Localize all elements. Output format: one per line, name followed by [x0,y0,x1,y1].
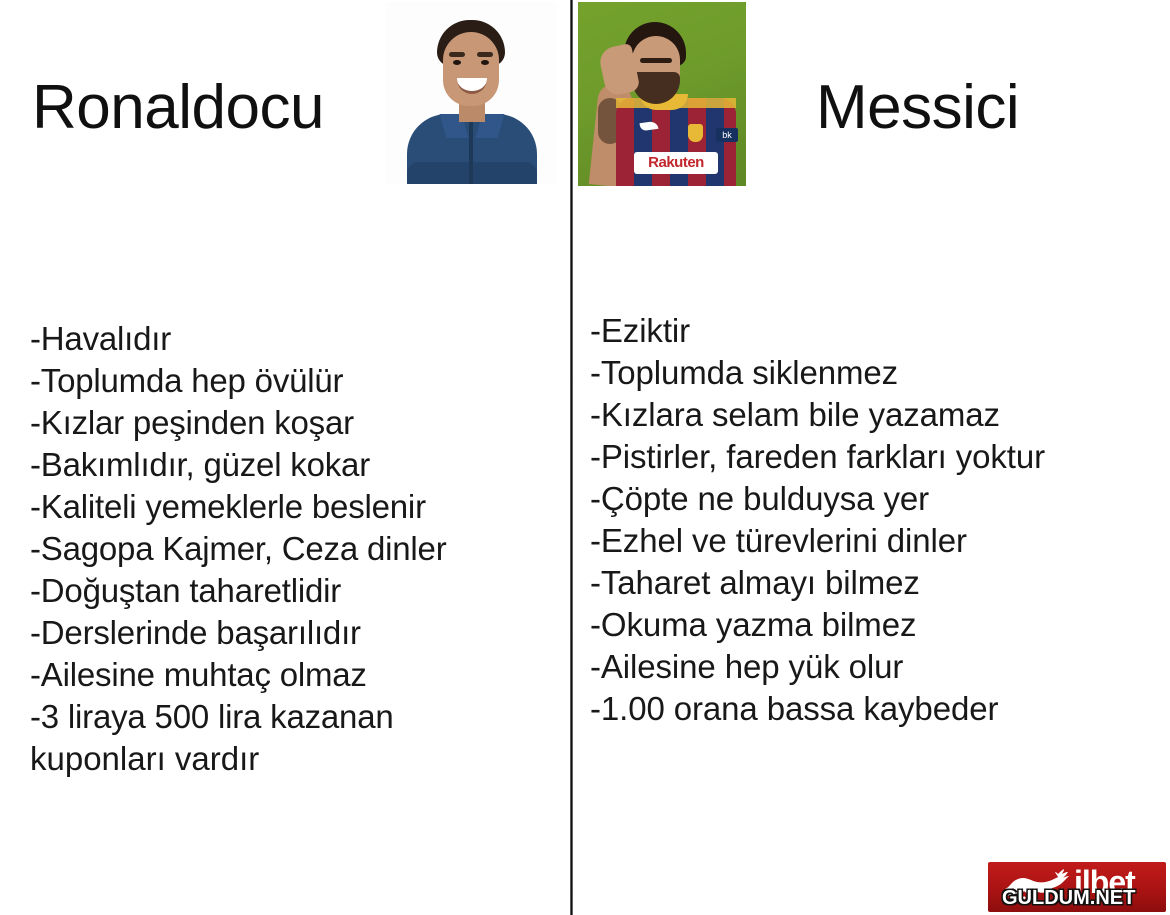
ronaldo-eye-left [453,60,461,65]
list-item: -Kızlara selam bile yazamaz [590,394,1045,436]
watermark-site: GULDUM.NET [1002,887,1135,910]
list-item: -Taharet almayı bilmez [590,562,1045,604]
ronaldo-shirt-placket [469,120,473,184]
list-item: -Pistirler, fareden farkları yoktur [590,436,1045,478]
list-item: -Ailesine hep yük olur [590,646,1045,688]
ronaldo-photo [385,2,557,184]
list-item: -3 liraya 500 lira kazanan [30,696,447,738]
list-item: -Sagopa Kajmer, Ceza dinler [30,528,447,570]
meme-image: Ronaldocu -Havalıdır -Toplumda hep övülü [0,0,1170,915]
messi-eyebrow [640,58,672,63]
left-column: Ronaldocu -Havalıdır -Toplumda hep övülü [0,0,570,915]
right-column: Messici bk Rakuten -Eziktir [573,0,1170,915]
list-item: -Eziktir [590,310,1045,352]
messi-photo-inner: bk Rakuten [578,2,746,186]
ronaldo-eye-right [481,60,489,65]
club-crest-icon [688,124,703,142]
list-item: -Ailesine muhtaç olmaz [30,654,447,696]
left-title: Ronaldocu [32,72,324,143]
list-item: -Okuma yazma bilmez [590,604,1045,646]
list-item: -Toplumda hep övülür [30,360,447,402]
list-item: -Toplumda siklenmez [590,352,1045,394]
right-list: -Eziktir -Toplumda siklenmez -Kızlara se… [590,310,1045,730]
left-list: -Havalıdır -Toplumda hep övülür -Kızlar … [30,318,447,780]
list-item: -Derslerinde başarılıdır [30,612,447,654]
list-item: -Havalıdır [30,318,447,360]
list-item: -1.00 orana bassa kaybeder [590,688,1045,730]
ronaldo-eyebrow-left [449,52,465,57]
right-title: Messici [816,72,1019,143]
list-item: -Çöpte ne bulduysa yer [590,478,1045,520]
messi-photo: bk Rakuten [578,2,746,186]
list-item: -Kaliteli yemeklerle beslenir [30,486,447,528]
ronaldo-face [443,32,499,106]
watermark: ilbet GULDUM.NET [988,862,1166,912]
list-item: -Kızlar peşinden koşar [30,402,447,444]
sleeve-badge: bk [716,128,738,142]
list-item: -Ezhel ve türevlerini dinler [590,520,1045,562]
list-item: -Bakımlıdır, güzel kokar [30,444,447,486]
ronaldo-eyebrow-right [477,52,493,57]
jersey-sponsor-text: Rakuten [634,152,718,174]
ronaldo-photo-inner [385,2,557,184]
list-item-continuation: kuponları vardır [30,738,447,780]
list-item: -Doğuştan taharetlidir [30,570,447,612]
